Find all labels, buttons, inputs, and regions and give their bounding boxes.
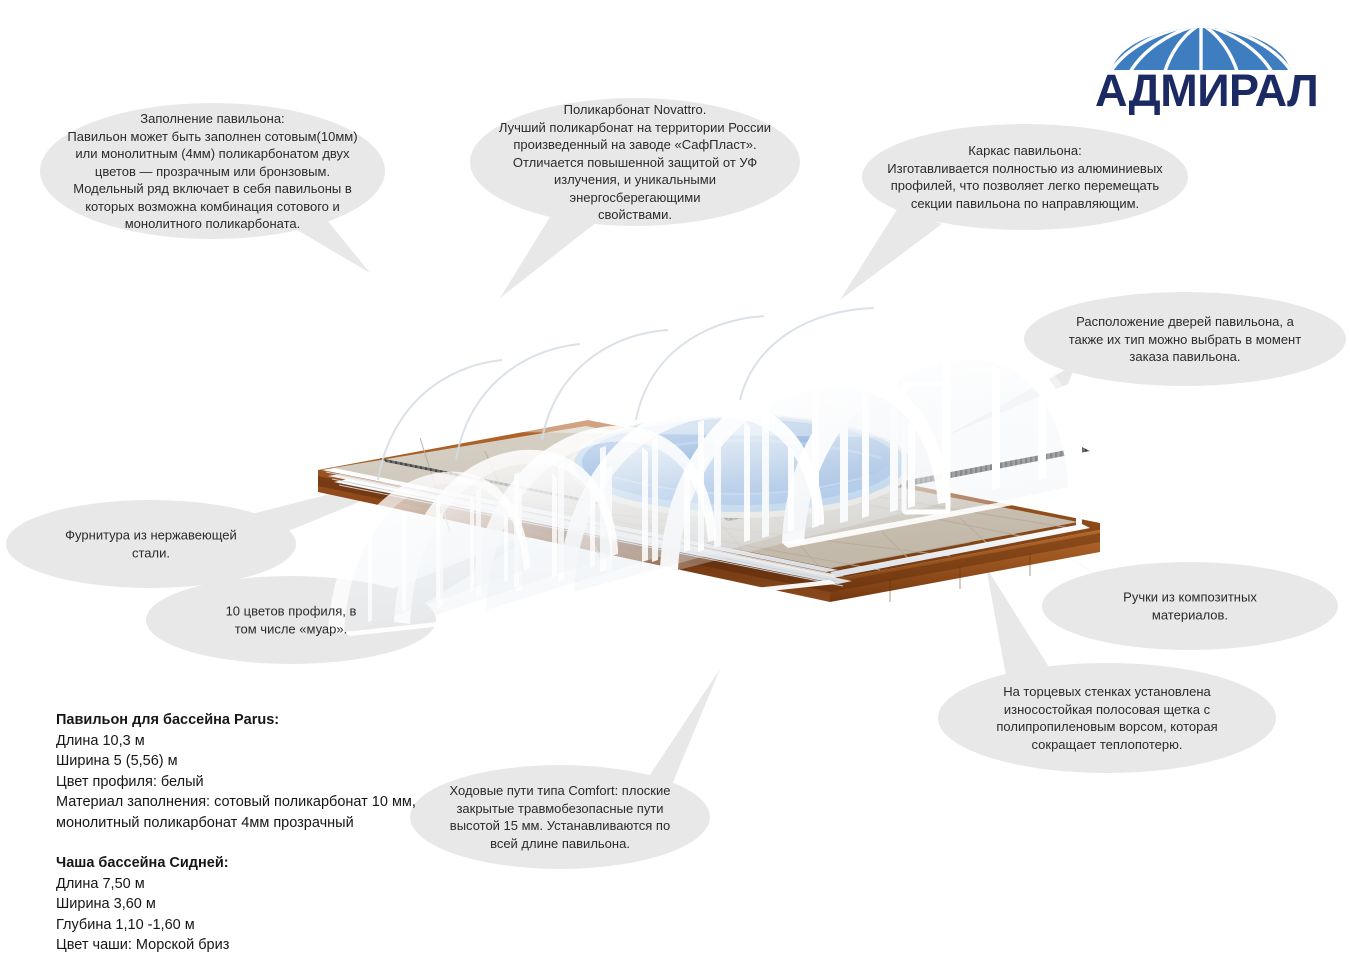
- page-root: АДМИРАЛ: [0, 0, 1350, 954]
- spec-pavilion-lines: Длина 10,3 м Ширина 5 (5,56) м Цвет проф…: [56, 731, 486, 834]
- callout-text: Ручки из композитных материалов.: [1063, 589, 1318, 624]
- specifications-block: Павильон для бассейна Parus: Длина 10,3 …: [56, 710, 486, 954]
- brand-name: АДМИРАЛ: [1095, 66, 1310, 116]
- callout-text: Заполнение павильона: Павильон может быт…: [64, 110, 361, 233]
- callout-text: Фурнитура из нержавеющей стали.: [26, 527, 275, 562]
- callout-text: Расположение дверей павильона, а также и…: [1047, 313, 1324, 366]
- callout-pavilion-frame: Каркас павильона: Изготавливается полнос…: [862, 124, 1188, 230]
- callout-text: Каркас павильона: Изготавливается полнос…: [885, 142, 1165, 212]
- spec-bowl-title: Чаша бассейна Сидней:: [56, 853, 486, 874]
- spec-divider: [56, 833, 486, 853]
- callout-text: На торцевых стенках установлена износост…: [962, 683, 1253, 753]
- callout-stainless-hardware: Фурнитура из нержавеющей стали.: [6, 500, 296, 588]
- callout-polycarbonate-novattro: Поликарбонат Novattro. Лучший поликарбон…: [470, 98, 800, 226]
- spec-bowl-lines: Длина 7,50 м Ширина 3,60 м Глубина 1,10 …: [56, 874, 486, 954]
- callout-pavilion-filling: Заполнение павильона: Павильон может быт…: [40, 103, 385, 239]
- brand-logo: АДМИРАЛ: [1095, 28, 1310, 120]
- spec-pavilion-title: Павильон для бассейна Parus:: [56, 710, 486, 731]
- callout-text: Поликарбонат Novattro. Лучший поликарбон…: [493, 101, 777, 224]
- callout-text: 10 цветов профиля, в том числе «муар».: [166, 603, 415, 638]
